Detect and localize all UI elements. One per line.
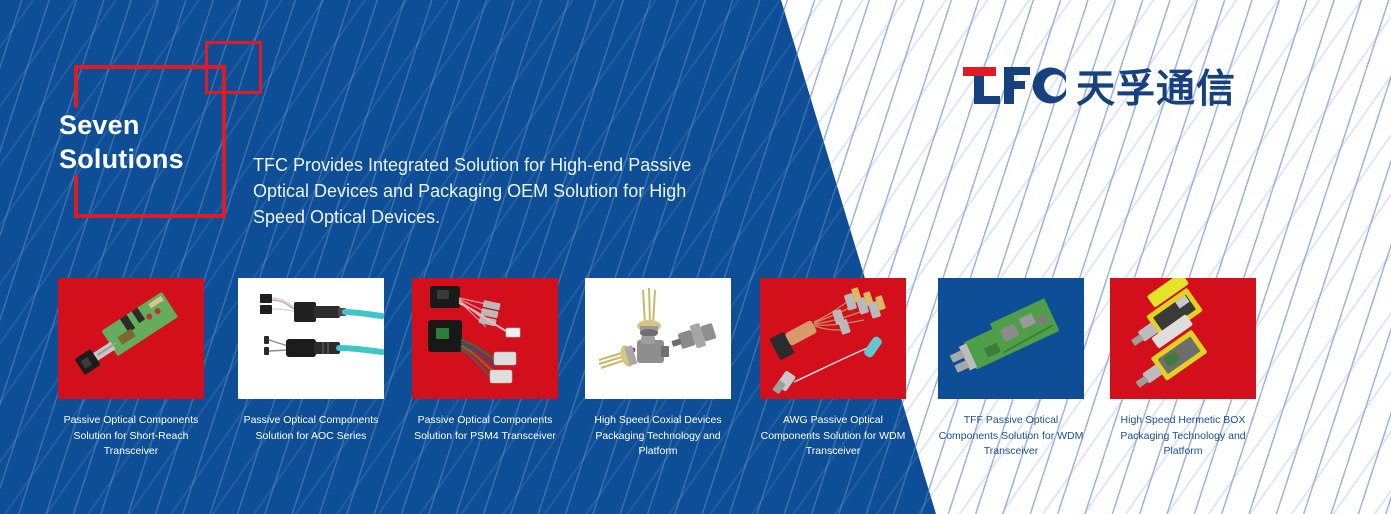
page-title-line-1: Seven [59, 108, 239, 142]
solution-card-6-image [938, 278, 1084, 399]
awg-fanout-photo [760, 278, 906, 399]
pcb-transceiver-photo [58, 278, 204, 399]
tfc-logo-mark-icon [962, 66, 1067, 114]
solution-card-5-image [760, 278, 906, 399]
solution-card-6[interactable]: TFF Passive Optical Components Solution … [938, 278, 1084, 460]
solution-card-1[interactable]: Passive Optical Components Solution for … [58, 278, 204, 460]
tfc-logo[interactable]: 天孚通信 [962, 66, 1236, 114]
psm4-fanout-photo [412, 278, 558, 399]
solution-card-7[interactable]: High Speed Hermetic BOX Packaging Techno… [1110, 278, 1256, 460]
solution-card-1-image [58, 278, 204, 399]
solution-card-2[interactable]: Passive Optical Components Solution for … [238, 278, 384, 444]
solution-card-4-image [585, 278, 731, 399]
page-title-line-2: Solutions [59, 142, 239, 176]
tfc-logo-chinese-name: 天孚通信 [1076, 68, 1236, 112]
intro-paragraph: TFC Provides Integrated Solution for Hig… [253, 152, 713, 230]
solution-card-4-caption: High Speed Coxial Devices Packaging Tech… [585, 413, 731, 460]
solution-card-3-caption: Passive Optical Components Solution for … [412, 413, 558, 444]
tff-pcb-photo [938, 278, 1084, 399]
solution-card-4[interactable]: High Speed Coxial Devices Packaging Tech… [585, 278, 731, 460]
solution-card-5-caption: AWG Passive Optical Components Solution … [760, 413, 906, 460]
solution-card-2-caption: Passive Optical Components Solution for … [238, 413, 384, 444]
fiber-connectors-photo [238, 278, 384, 399]
solution-card-5[interactable]: AWG Passive Optical Components Solution … [760, 278, 906, 460]
solution-card-7-image [1110, 278, 1256, 399]
tfc-seven-solutions-banner: Seven Solutions TFC Provides Integrated … [0, 0, 1391, 514]
solution-card-2-image [238, 278, 384, 399]
solution-card-3[interactable]: Passive Optical Components Solution for … [412, 278, 558, 444]
solution-card-7-caption: High Speed Hermetic BOX Packaging Techno… [1110, 413, 1256, 460]
hermetic-box-photo [1110, 278, 1256, 399]
coaxial-devices-photo [585, 278, 731, 399]
solution-card-6-caption: TFF Passive Optical Components Solution … [938, 413, 1084, 460]
solution-card-3-image [412, 278, 558, 399]
page-title: Seven Solutions [59, 108, 239, 176]
solution-card-1-caption: Passive Optical Components Solution for … [58, 413, 204, 460]
